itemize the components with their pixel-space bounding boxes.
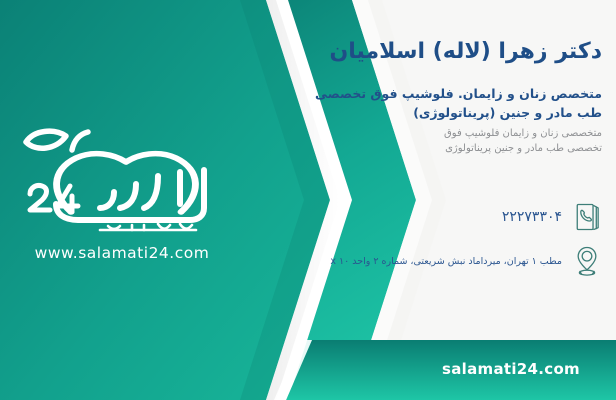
card-content: دکتر زهرا (لاله) اسلامیان متخصص زنان و ز… bbox=[242, 0, 602, 400]
specialty-sub-line-2: تخصصی طب مادر و جنین پریناتولوژی bbox=[242, 141, 602, 156]
footer-website[interactable]: salamati24.com bbox=[0, 360, 580, 378]
location-pin-icon bbox=[572, 244, 602, 278]
doctor-specialty-secondary: متخصصی زنان و زایمان فلوشیپ فوق تخصصی طب… bbox=[242, 126, 602, 156]
doctor-name: دکتر زهرا (لاله) اسلامیان bbox=[242, 38, 602, 66]
address-row[interactable]: مطب ۱ تهران، میرداماد نبش شریعتی، شماره … bbox=[242, 244, 602, 278]
phone-row[interactable]: ۲۲۲۷۳۳۰۴ bbox=[242, 200, 602, 234]
apple-outline-logo-icon bbox=[8, 112, 236, 242]
address-text: مطب ۱ تهران، میرداماد نبش شریعتی، شماره … bbox=[242, 255, 562, 268]
brand-logo: www.salamati24.com bbox=[8, 112, 236, 277]
specialty-line-2: طب مادر و جنین (پریناتولوژی) bbox=[242, 103, 602, 122]
doctor-specialty: متخصص زنان و زایمان. فلوشیپ فوق تخصصی طب… bbox=[242, 84, 602, 123]
business-card: www.salamati24.com دکتر زهرا (لاله) اسلا… bbox=[0, 0, 616, 400]
specialty-sub-line-1: متخصصی زنان و زایمان فلوشیپ فوق bbox=[242, 126, 602, 141]
logo-website-url: www.salamati24.com bbox=[8, 244, 236, 262]
phone-number: ۲۲۲۷۳۳۰۴ bbox=[242, 209, 562, 225]
phone-book-icon bbox=[572, 200, 602, 234]
specialty-line-1: متخصص زنان و زایمان. فلوشیپ فوق تخصصی bbox=[242, 84, 602, 103]
